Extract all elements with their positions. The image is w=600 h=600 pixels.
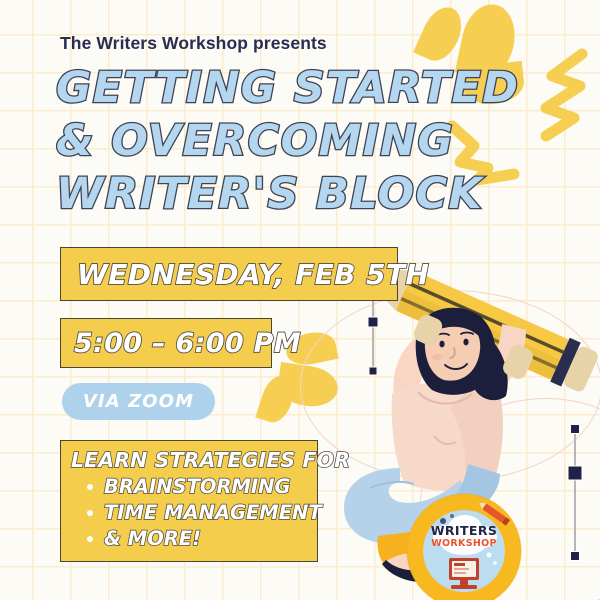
list-item: TIME MANAGEMENT [87,500,317,526]
platform-badge-text: VIA ZOOM [83,391,194,412]
svg-text:WORKSHOP: WORKSHOP [431,538,496,549]
poster-canvas: The Writers Workshop presents GETTING ST… [0,0,600,600]
headline-line-3: WRITER'S BLOCK [56,168,526,221]
learn-strategies-box: LEARN STRATEGIES FOR BRAINSTORMING TIME … [60,440,318,562]
time-banner: 5:00 – 6:00 PM [60,318,272,368]
date-banner-text: WEDNESDAY, FEB 5TH [77,258,429,291]
learn-strategies-title: LEARN STRATEGIES FOR [71,448,317,472]
headline-line-1: GETTING STARTED [56,62,526,115]
presenter-line: The Writers Workshop presents [60,33,327,54]
learn-strategies-list: BRAINSTORMING TIME MANAGEMENT & MORE! [71,474,317,552]
platform-badge: VIA ZOOM [62,383,215,420]
date-banner: WEDNESDAY, FEB 5TH [60,247,398,301]
headline-line-2: & OVERCOMING [56,115,526,168]
list-item: & MORE! [87,526,317,552]
list-item: BRAINSTORMING [87,474,317,500]
svg-text:WRITERS: WRITERS [431,523,498,538]
logo-badge: WRITERS WORKSHOP [405,492,523,600]
page-title: GETTING STARTED & OVERCOMING WRITER'S BL… [56,62,526,221]
time-banner-text: 5:00 – 6:00 PM [74,328,301,359]
